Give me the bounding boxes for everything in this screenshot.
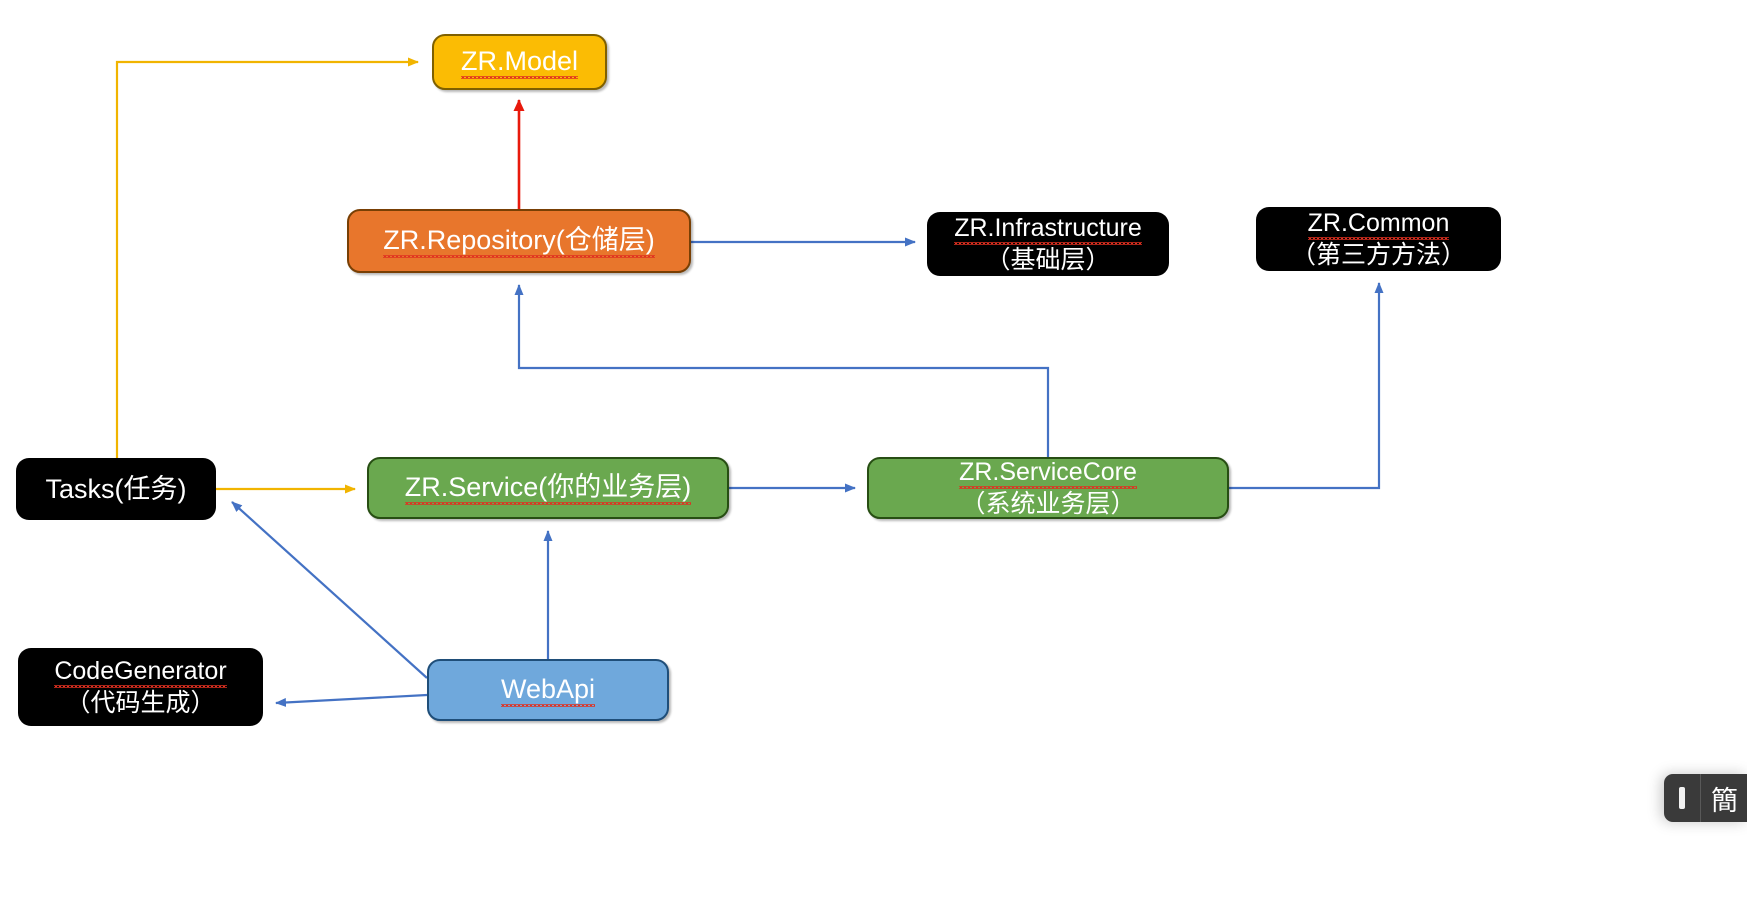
text-caret-icon <box>1664 774 1701 822</box>
node-zr-service[interactable]: ZR.Service(你的业务层) <box>367 457 729 519</box>
connector-servicecore-to-repository <box>519 285 1048 457</box>
ime-mode-label[interactable]: 簡 <box>1701 774 1747 822</box>
node-tasks-line-1: Tasks(任务) <box>46 473 187 506</box>
node-webapi-line-1: WebApi <box>501 673 595 708</box>
node-codegenerator-line-1: CodeGenerator <box>54 656 226 689</box>
node-zr-common[interactable]: ZR.Common （第三方方法） <box>1256 207 1501 271</box>
node-zr-common-line-1: ZR.Common <box>1308 208 1450 241</box>
ime-indicator[interactable]: 簡 <box>1664 774 1747 822</box>
caret-bar <box>1679 787 1685 809</box>
node-tasks[interactable]: Tasks(任务) <box>16 458 216 520</box>
node-zr-repository-line-1: ZR.Repository(仓储层) <box>383 224 655 259</box>
node-zr-infrastructure-line-2: （基础层） <box>985 245 1110 276</box>
node-zr-service-line-1: ZR.Service(你的业务层) <box>405 471 692 506</box>
diagram-canvas: ZR.Model ZR.Repository(仓储层) ZR.Infrastru… <box>0 0 1747 910</box>
connector-servicecore-to-common <box>1229 283 1379 488</box>
node-zr-common-line-2: （第三方方法） <box>1291 240 1466 271</box>
connector-webapi-to-tasks <box>232 502 427 678</box>
node-zr-infrastructure[interactable]: ZR.Infrastructure （基础层） <box>927 212 1169 276</box>
node-codegenerator[interactable]: CodeGenerator （代码生成） <box>18 648 263 726</box>
node-zr-servicecore-line-2: （系统业务层） <box>960 489 1135 520</box>
connector-layer <box>0 0 1747 910</box>
connector-webapi-to-codegenerator <box>276 695 427 703</box>
node-zr-servicecore[interactable]: ZR.ServiceCore （系统业务层） <box>867 457 1229 519</box>
node-webapi[interactable]: WebApi <box>427 659 669 721</box>
node-zr-servicecore-line-1: ZR.ServiceCore <box>959 457 1137 490</box>
node-zr-infrastructure-line-1: ZR.Infrastructure <box>954 213 1142 246</box>
node-zr-model[interactable]: ZR.Model <box>432 34 607 90</box>
node-zr-repository[interactable]: ZR.Repository(仓储层) <box>347 209 691 273</box>
node-codegenerator-line-2: （代码生成） <box>65 688 215 719</box>
node-zr-model-line-1: ZR.Model <box>461 45 578 80</box>
